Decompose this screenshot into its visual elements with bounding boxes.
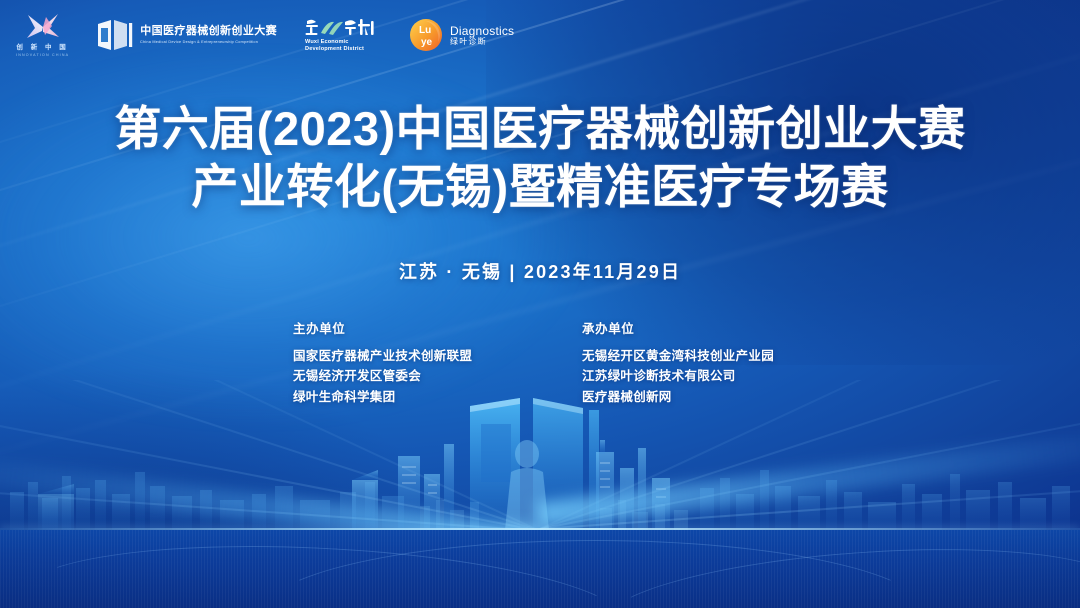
cityscape-scene	[0, 378, 1080, 608]
organizer-column-coorganizer: 承办单位 无锡经开区黄金湾科技创业产业园 江苏绿叶诊断技术有限公司 医疗器械创新…	[582, 318, 787, 407]
sponsor-logo-bar: 创 新 中 国 INNOVATION CHINA 中国医疗器械创新创业大赛 Ch…	[0, 0, 1080, 70]
luye-circle-icon: Lu ye	[409, 18, 443, 52]
logo-china-medical-device-competition: 中国医疗器械创新创业大赛 China Medical Device Design…	[97, 19, 277, 51]
logo-innovation-china-en: INNOVATION CHINA	[16, 54, 69, 58]
title-line-2: 产业转化(无锡)暨精准医疗专场赛	[0, 158, 1080, 216]
wuxi-calligraphy-icon	[305, 17, 381, 37]
logo-wuxi-en: Wuxi Economic Development District	[305, 39, 364, 53]
event-poster: 创 新 中 国 INNOVATION CHINA 中国医疗器械创新创业大赛 Ch…	[0, 0, 1080, 608]
organizer-heading: 主办单位	[293, 318, 498, 337]
logo-wuxi-economic-development-district: Wuxi Economic Development District	[305, 17, 381, 53]
organizer-item: 绿叶生命科学集团	[293, 387, 498, 407]
organizer-item: 国家医疗器械产业技术创新联盟	[293, 346, 498, 366]
open-gate-icon	[97, 19, 133, 51]
logo-innovation-china: 创 新 中 国 INNOVATION CHINA	[16, 12, 69, 58]
organizer-section: 主办单位 国家医疗器械产业技术创新联盟 无锡经济开发区管委会 绿叶生命科学集团 …	[0, 318, 1080, 407]
logo-competition-en: China Medical Device Design & Entreprene…	[140, 40, 273, 44]
organizer-item: 无锡经开区黄金湾科技创业产业园	[582, 346, 787, 366]
organizer-item: 无锡经济开发区管委会	[293, 366, 498, 386]
organizer-item: 江苏绿叶诊断技术有限公司	[582, 366, 787, 386]
organizer-heading: 承办单位	[582, 318, 787, 337]
svg-text:Lu: Lu	[419, 25, 431, 36]
logo-competition-cn: 中国医疗器械创新创业大赛	[140, 26, 277, 38]
logo-luye-en: Diagnostics	[450, 25, 514, 37]
svg-text:ye: ye	[421, 37, 433, 48]
organizer-column-host: 主办单位 国家医疗器械产业技术创新联盟 无锡经济开发区管委会 绿叶生命科学集团	[293, 318, 498, 407]
organizer-item: 医疗器械创新网	[582, 387, 787, 407]
light-beam	[0, 452, 540, 530]
logo-innovation-china-cn: 创 新 中 国	[16, 45, 68, 52]
event-location-date: 江苏 · 无锡 | 2023年11月29日	[0, 258, 1080, 284]
ground-reflections	[0, 530, 1080, 608]
title-line-1: 第六届(2023)中国医疗器械创新创业大赛	[0, 100, 1080, 158]
event-title: 第六届(2023)中国医疗器械创新创业大赛 产业转化(无锡)暨精准医疗专场赛	[0, 100, 1080, 217]
logo-luye-cn: 绿叶诊断	[450, 38, 514, 46]
butterfly-mark-icon	[22, 12, 64, 42]
logo-luye-diagnostics: Lu ye Diagnostics 绿叶诊断	[409, 18, 514, 52]
